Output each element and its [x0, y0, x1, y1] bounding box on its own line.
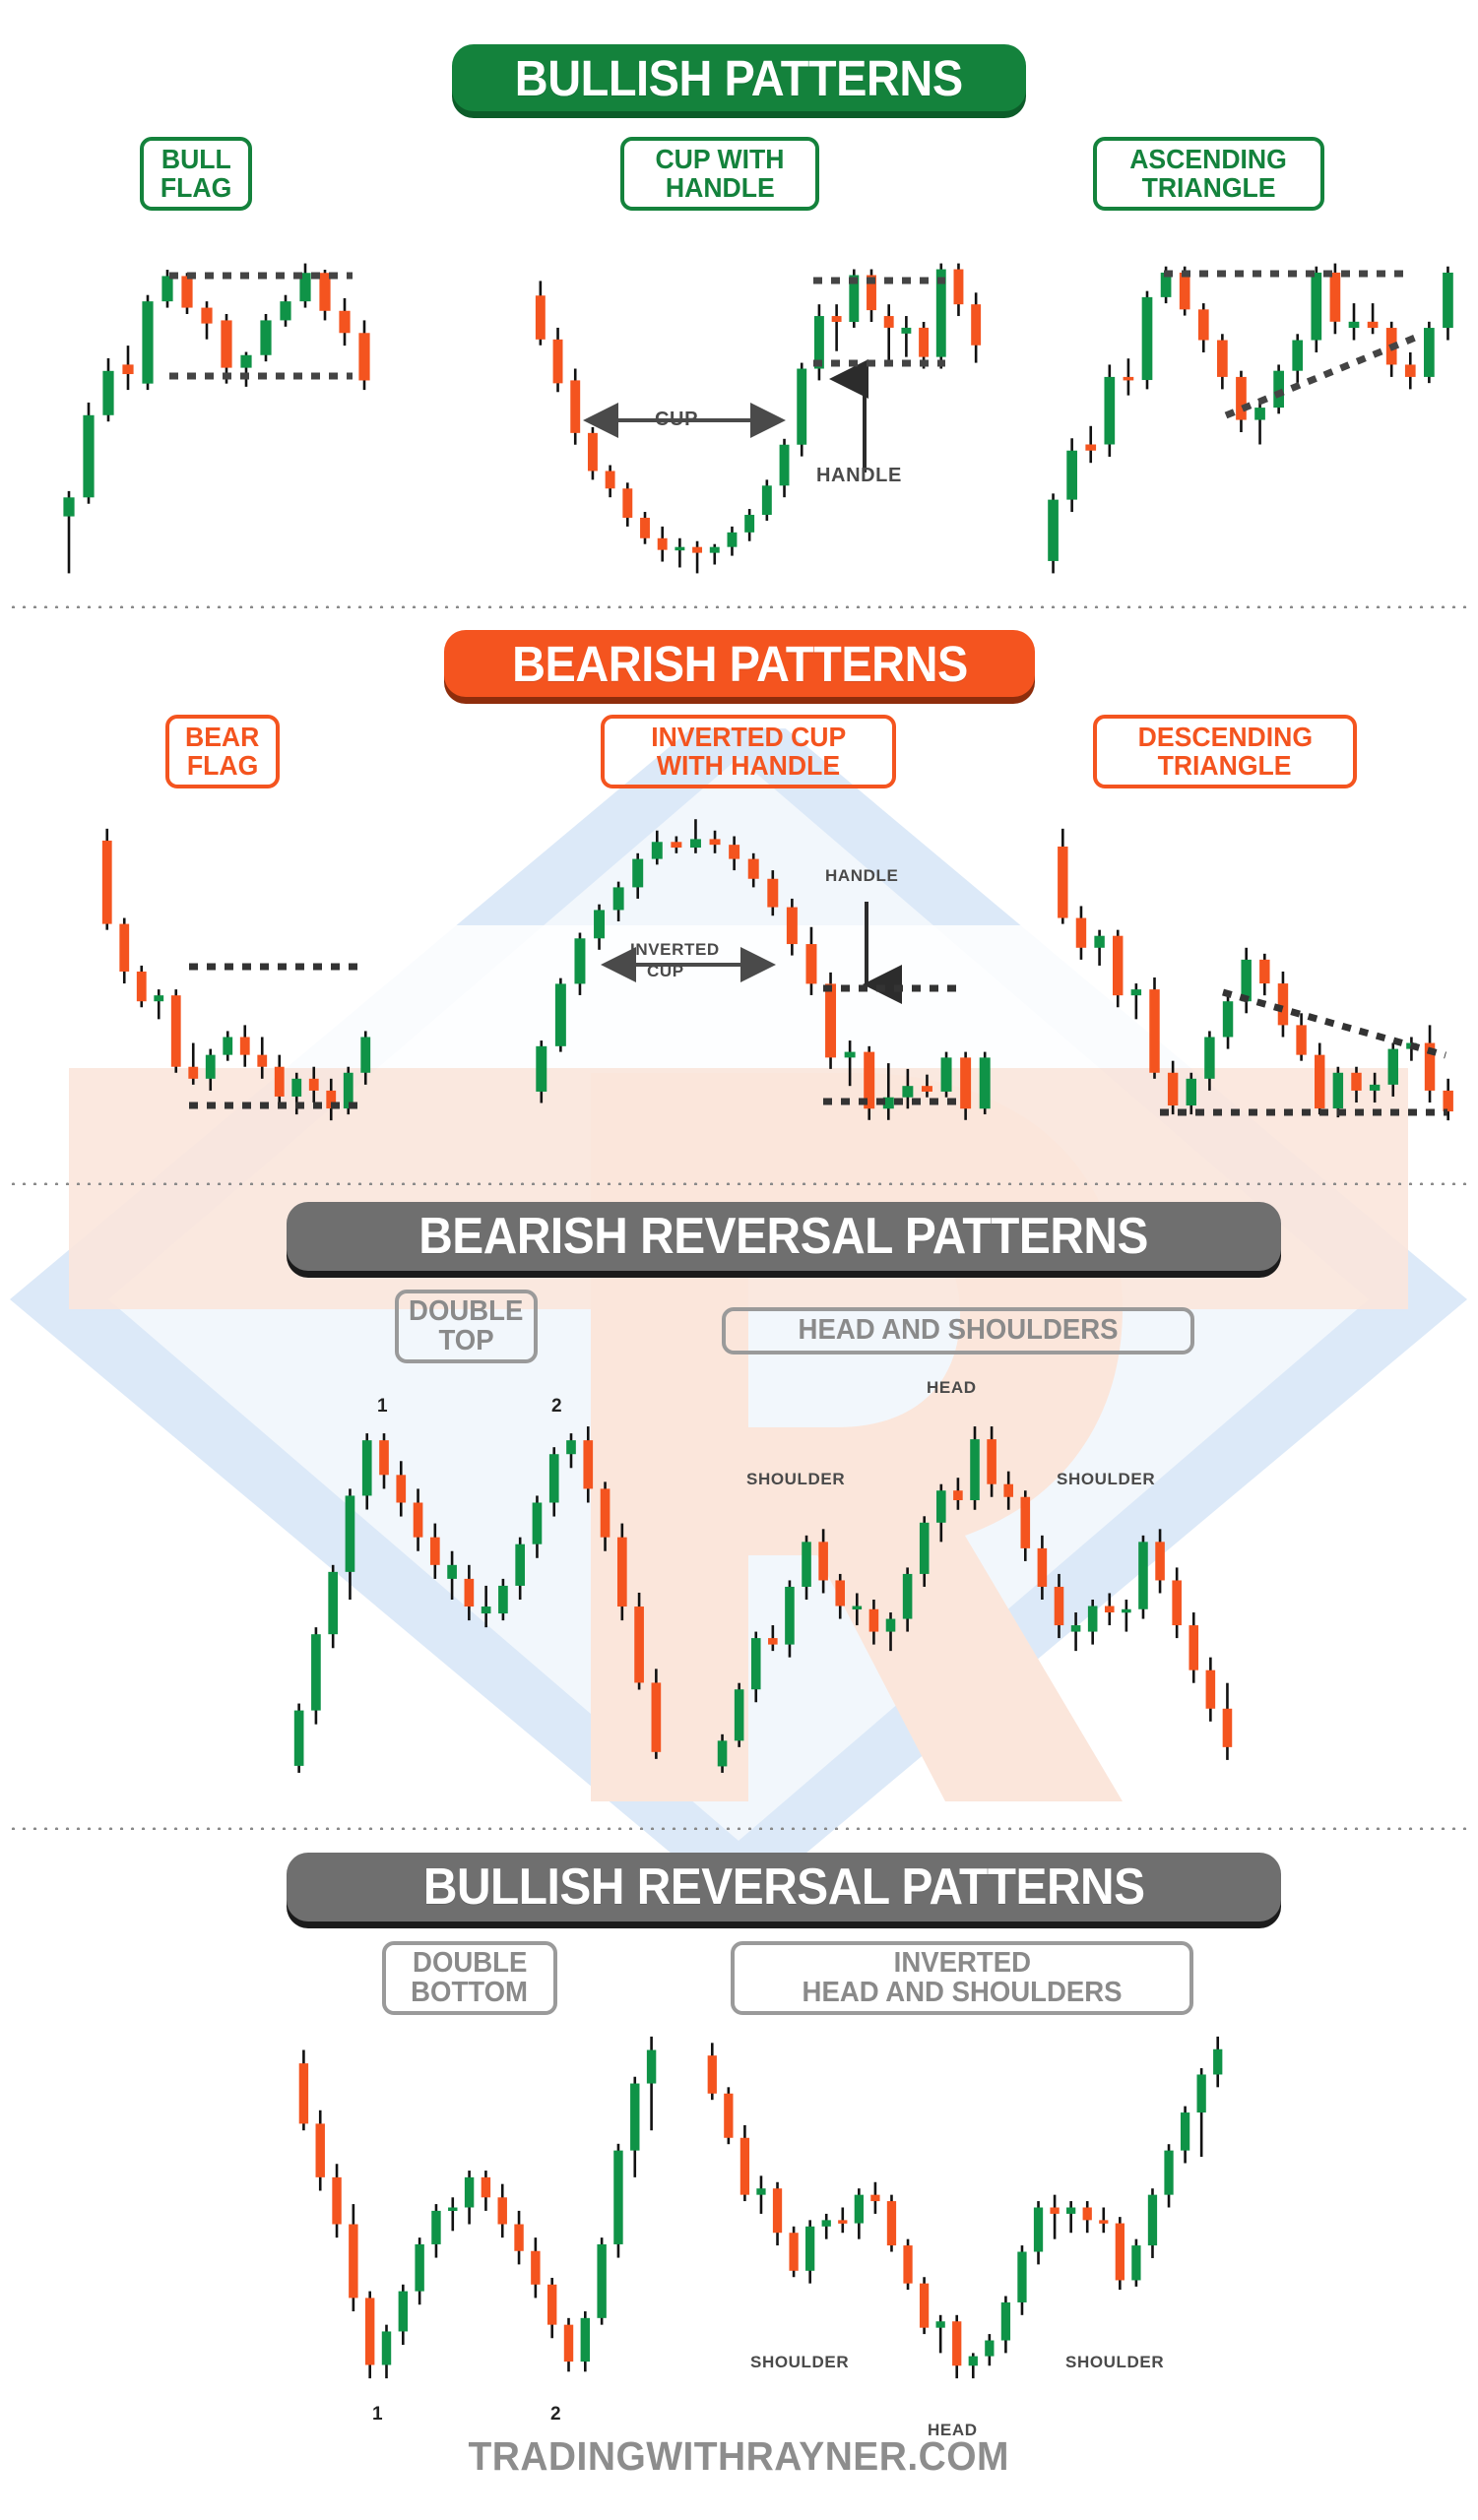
candle-body-down [1038, 1548, 1048, 1587]
overlay-bear-flag [98, 817, 374, 1132]
candle-wick [939, 2315, 942, 2354]
handle-annotation: HANDLE [816, 465, 902, 487]
candle-body-up [735, 1689, 744, 1740]
candle-body-down [1116, 2224, 1125, 2281]
candle-body-up [549, 1454, 559, 1502]
candle-body-up [399, 2292, 408, 2332]
hs-left-shoulder-label: SHOULDER [746, 1470, 845, 1489]
overlay-cup-with-handle [532, 251, 985, 586]
candle-body-up [294, 1711, 304, 1766]
section-divider-1 [8, 602, 1470, 608]
candle-body-down [365, 2298, 374, 2364]
candle-body-up [853, 1606, 863, 1610]
overlay-bull-flag [59, 251, 374, 586]
candle-body-up [970, 1439, 980, 1500]
candle-body-up [447, 1565, 457, 1579]
candle-body-down [1083, 2208, 1092, 2221]
candle-body-up [431, 2211, 440, 2244]
candle-body-up [1181, 2112, 1189, 2151]
candle-body-up [448, 2208, 457, 2212]
rising-support-line [1226, 336, 1420, 415]
candle-body-up [903, 1574, 913, 1619]
hs-head-label: HEAD [927, 1378, 977, 1398]
candle-wick [1069, 2201, 1072, 2233]
candle-body-down [724, 2094, 733, 2138]
falling-resistance-line [1223, 992, 1446, 1055]
candle-body-down [953, 1490, 963, 1500]
candle-body-up [985, 2341, 994, 2357]
candle-body-down [1206, 1670, 1216, 1709]
candle-body-up [328, 1572, 338, 1634]
candle-body-up [1197, 2074, 1206, 2112]
ihs-right-shoulder-label: SHOULDER [1065, 2353, 1164, 2372]
candle-body-down [768, 1638, 778, 1645]
candle-body-down [332, 2177, 341, 2225]
label-bull-flag: BULL FLAG [140, 137, 252, 211]
infographic-page: BULLISH PATTERNS BULL FLAG CUP WITH HAND… [0, 0, 1478, 2520]
candle-body-up [1001, 2302, 1010, 2341]
candle-body-up [581, 2318, 590, 2362]
candle-body-down [652, 1682, 662, 1751]
candle-body-down [1155, 1542, 1165, 1580]
candle-body-down [952, 2321, 961, 2365]
candle-body-down [1021, 1497, 1031, 1548]
label-double-bottom: DOUBLE BOTTOM [382, 1941, 557, 2015]
candle-body-down [547, 2285, 556, 2325]
candle-body-up [920, 1523, 930, 1574]
banner-bearish-reversal-patterns: BEARISH REVERSAL PATTERNS [287, 1202, 1281, 1271]
candle-body-down [482, 2177, 490, 2197]
candle-body-down [583, 1440, 593, 1488]
inverted-handle-annotation: HANDLE [825, 866, 898, 886]
cup-annotation: CUP [655, 409, 698, 431]
candle-body-down [1223, 1709, 1233, 1747]
candlestick-series-double-top [290, 1413, 665, 1787]
candle-body-down [1055, 1587, 1064, 1625]
candle-body-up [1066, 2208, 1075, 2214]
double-bottom-trough-1-label: 1 [372, 2404, 383, 2425]
section-divider-2 [8, 1179, 1470, 1185]
candle-body-up [1213, 2049, 1222, 2075]
candle-body-up [311, 1634, 321, 1710]
candle-body-down [903, 2245, 912, 2284]
chart-double-top [290, 1413, 665, 1787]
candle-body-up [630, 2084, 639, 2151]
overlay-ascending-triangle [1044, 251, 1457, 586]
candle-wick [1125, 1600, 1128, 1632]
candle-body-up [613, 2151, 622, 2244]
candle-body-up [822, 2220, 831, 2226]
candle-body-down [987, 1439, 996, 1484]
candle-body-down [1189, 1625, 1198, 1670]
chart-double-bottom [295, 2023, 660, 2392]
candle-body-up [415, 2244, 423, 2292]
candlestick-series-head-and-shoulders [714, 1413, 1236, 1787]
candle-body-down [773, 2188, 782, 2233]
candle-body-down [740, 2138, 749, 2195]
label-cup-with-handle: CUP WITH HANDLE [620, 137, 819, 211]
footer-website: TRADINGWITHRAYNER.COM [0, 2433, 1478, 2480]
banner-bullish-reversal-patterns: BULLISH REVERSAL PATTERNS [287, 1853, 1281, 1921]
chart-head-and-shoulders [714, 1413, 1236, 1787]
candle-body-up [1131, 2245, 1140, 2280]
candle-body-up [533, 1502, 543, 1543]
candle-body-up [751, 1638, 761, 1689]
candle-body-up [597, 2244, 606, 2318]
candle-body-down [531, 2251, 540, 2285]
candle-body-down [299, 2063, 308, 2123]
candle-body-up [886, 1619, 896, 1632]
candle-body-up [1148, 2195, 1157, 2245]
candle-body-down [498, 2197, 507, 2224]
section-divider-3 [8, 1824, 1470, 1830]
candle-body-up [718, 1740, 728, 1766]
candle-body-down [1050, 2208, 1059, 2214]
overlay-inverted-cup-with-handle [532, 807, 995, 1132]
candle-body-down [1172, 1580, 1182, 1625]
candle-body-up [936, 1490, 946, 1523]
banner-bullish-patterns: BULLISH PATTERNS [452, 44, 1026, 111]
candle-body-up [566, 1440, 576, 1454]
candle-body-up [482, 1606, 491, 1613]
candle-body-up [346, 1495, 355, 1571]
candle-body-down [316, 2123, 325, 2176]
candle-body-down [869, 1609, 879, 1632]
candlestick-series-double-bottom [295, 2023, 660, 2392]
candle-body-up [802, 1542, 811, 1587]
candle-body-up [785, 1587, 795, 1645]
candle-body-down [601, 1488, 610, 1537]
candle-body-down [349, 2225, 357, 2299]
candle-body-up [1122, 1609, 1131, 1613]
inverted-cup-annotation-line1: INVERTED [630, 940, 720, 960]
label-inverted-cup-with-handle: INVERTED CUP WITH HANDLE [601, 715, 896, 788]
candle-body-up [1088, 1606, 1098, 1632]
candle-body-down [887, 2201, 896, 2245]
candle-body-down [514, 2225, 523, 2251]
label-head-and-shoulders: HEAD AND SHOULDERS [722, 1307, 1194, 1354]
candle-body-down [379, 1440, 389, 1475]
inverted-cup-annotation-line2: CUP [647, 962, 684, 981]
double-top-peak-2-label: 2 [551, 1396, 562, 1417]
candle-body-up [969, 2357, 978, 2366]
candle-wick [451, 2197, 454, 2231]
hs-right-shoulder-label: SHOULDER [1057, 1470, 1155, 1489]
label-inverted-head-and-shoulders: INVERTED HEAD AND SHOULDERS [731, 1941, 1193, 2015]
candle-body-up [382, 2331, 391, 2364]
candle-body-down [465, 1579, 475, 1606]
banner-bearish-patterns: BEARISH PATTERNS [444, 630, 1035, 697]
candle-body-down [838, 2220, 847, 2224]
label-double-top: DOUBLE TOP [395, 1290, 538, 1363]
candle-body-down [835, 1580, 845, 1606]
candle-body-up [647, 2050, 656, 2084]
double-top-peak-1-label: 1 [377, 1396, 388, 1417]
overlay-descending-triangle [1054, 817, 1457, 1132]
candle-body-down [920, 2284, 929, 2328]
candle-body-up [498, 1586, 508, 1613]
candle-body-down [1099, 2220, 1108, 2224]
candle-body-down [789, 2233, 798, 2271]
label-bear-flag: BEAR FLAG [165, 715, 280, 788]
candle-body-up [515, 1544, 525, 1586]
candle-body-down [396, 1475, 406, 1502]
label-ascending-triangle: ASCENDING TRIANGLE [1093, 137, 1324, 211]
candle-body-down [708, 2055, 717, 2094]
candle-body-down [430, 1538, 440, 1565]
candle-wick [1054, 2195, 1057, 2239]
candle-body-up [362, 1440, 372, 1495]
candle-body-up [1017, 2252, 1026, 2302]
ihs-left-shoulder-label: SHOULDER [750, 2353, 849, 2372]
chart-inverted-head-and-shoulders [704, 2023, 1226, 2392]
candle-body-up [465, 2177, 474, 2208]
candle-body-up [936, 2321, 945, 2327]
candle-body-down [1003, 1484, 1013, 1497]
candle-body-up [1138, 1542, 1148, 1608]
label-descending-triangle: DESCENDING TRIANGLE [1093, 715, 1357, 788]
double-bottom-trough-2-label: 2 [550, 2404, 561, 2425]
candle-body-down [870, 2195, 879, 2201]
candle-body-up [1164, 2151, 1173, 2195]
candle-body-up [855, 2195, 864, 2224]
candle-body-up [756, 2188, 765, 2194]
candle-body-down [617, 1538, 627, 1606]
candle-body-down [818, 1542, 828, 1580]
candle-body-up [1034, 2208, 1043, 2252]
candle-body-up [805, 2227, 814, 2271]
candle-body-down [564, 2325, 573, 2362]
candle-body-up [1071, 1625, 1081, 1632]
candle-body-down [1105, 1606, 1115, 1613]
candle-body-down [634, 1606, 644, 1682]
candle-body-down [414, 1502, 423, 1537]
candlestick-series-inverted-head-and-shoulders [704, 2023, 1226, 2392]
